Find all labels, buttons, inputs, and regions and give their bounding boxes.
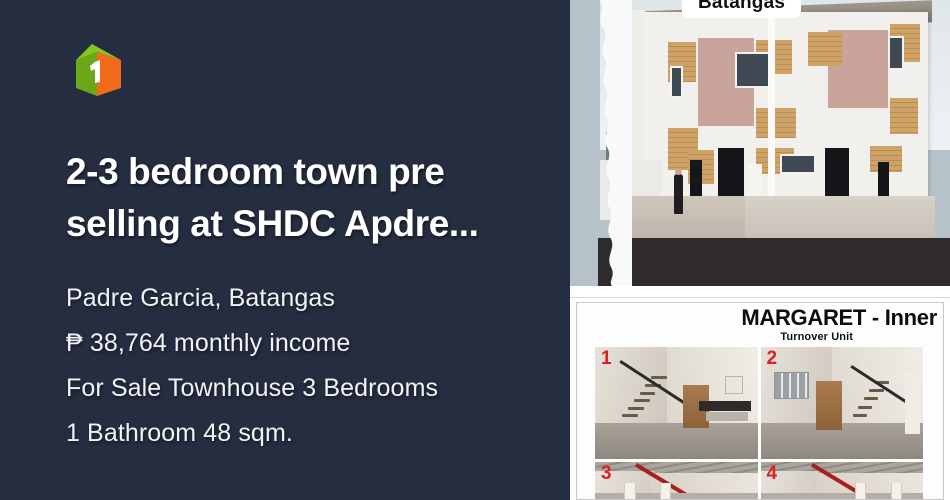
stone-accent [756,108,796,138]
sheet-title: MARGARET - Inner [741,306,937,330]
listing-type: For Sale Townhouse 3 Bedrooms [66,366,530,411]
render-number: 3 [601,464,612,484]
column [660,483,671,499]
listing-info-panel: 2-3 bedroom town pre selling at SHDC Apd… [0,0,570,500]
column [891,483,902,499]
townhouse-exterior-photo[interactable]: Batangas [570,0,950,286]
sheet-frame: MARGARET - Inner Turnover Unit [576,302,944,500]
render-thumbnail[interactable]: 4 [761,462,924,499]
window [780,154,816,174]
listing-media-panel[interactable]: Batangas MARGARET - Inner Turnover Unit [570,0,950,500]
interior-door [816,381,842,430]
floor [595,493,758,499]
render-thumbnail[interactable]: 3 [595,462,758,499]
property-listing-card[interactable]: 2-3 bedroom town pre selling at SHDC Apd… [0,0,950,500]
stair-railing [852,365,907,421]
window-grid [774,372,810,399]
column [624,483,635,499]
listing-title: 2-3 bedroom town pre selling at SHDC Apd… [66,146,528,250]
listing-monthly-income: ₱ 38,764 monthly income [66,321,530,366]
listing-location: Padre Garcia, Batangas [66,276,530,321]
window [670,66,683,98]
house-logo[interactable] [66,38,128,100]
stone-accent [890,98,918,134]
render-number: 4 [767,464,778,484]
window [888,36,904,70]
listing-meta: Padre Garcia, Batangas ₱ 38,764 monthly … [66,276,530,456]
stone-accent [808,32,842,66]
render-number: 2 [767,349,778,369]
render-thumbnail[interactable]: 1 [595,347,758,459]
render-thumbnail[interactable]: 2 [761,347,924,459]
wall-frame [725,376,743,394]
render-grid: 1 [595,347,923,499]
kitchen-cabinet [706,412,748,421]
floor [595,423,758,459]
kitchen-counter [699,401,751,411]
sheet-subtitle: Turnover Unit [780,331,853,343]
torn-paper-edge [570,0,632,286]
media-divider [570,286,950,297]
interior-door [905,372,920,435]
render-number: 1 [601,349,612,369]
soil-strip [598,238,950,286]
batangas-overlay-label: Batangas [682,0,801,18]
column [855,483,866,499]
interior-turnover-sheet[interactable]: MARGARET - Inner Turnover Unit [570,297,950,500]
floor [761,423,924,459]
person-figure [674,174,683,214]
listing-detail: 1 Bathroom 48 sqm. [66,411,530,456]
